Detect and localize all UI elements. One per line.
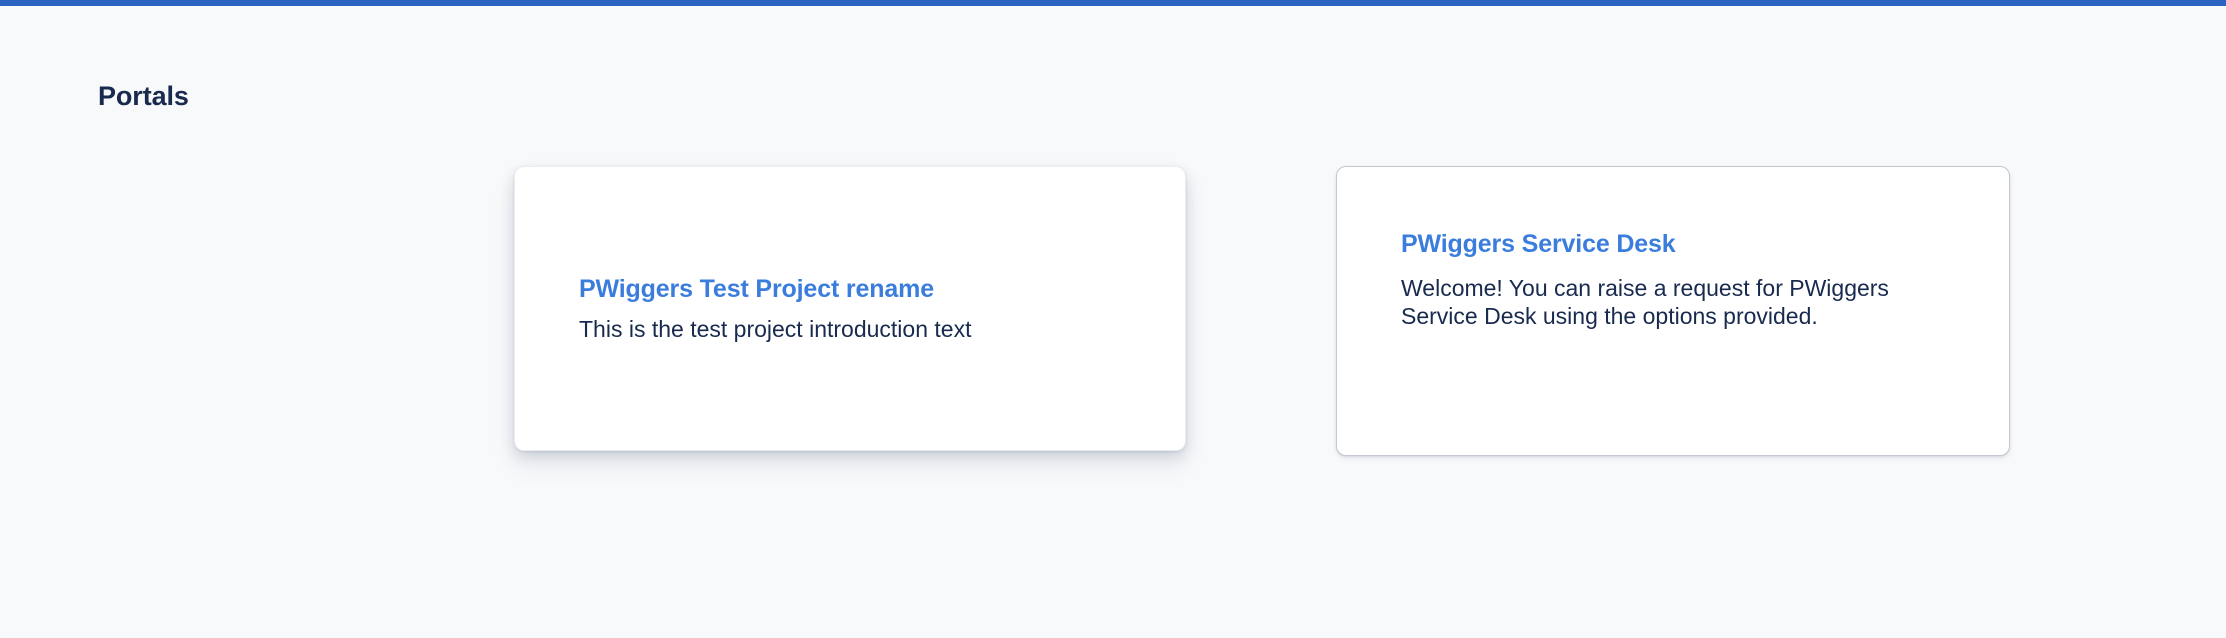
portal-card-title[interactable]: PWiggers Service Desk <box>1401 229 1945 260</box>
portal-card-description: This is the test project introduction te… <box>579 315 1121 344</box>
portal-card-list: PWiggers Test Project rename This is the… <box>0 0 2226 638</box>
portal-card-title[interactable]: PWiggers Test Project rename <box>579 274 1121 305</box>
portal-card-pwiggers-service-desk[interactable]: PWiggers Service Desk Welcome! You can r… <box>1336 166 2010 456</box>
portal-card-pwiggers-test-project-rename[interactable]: PWiggers Test Project rename This is the… <box>514 166 1186 451</box>
portal-card-description: Welcome! You can raise a request for PWi… <box>1401 274 1921 330</box>
